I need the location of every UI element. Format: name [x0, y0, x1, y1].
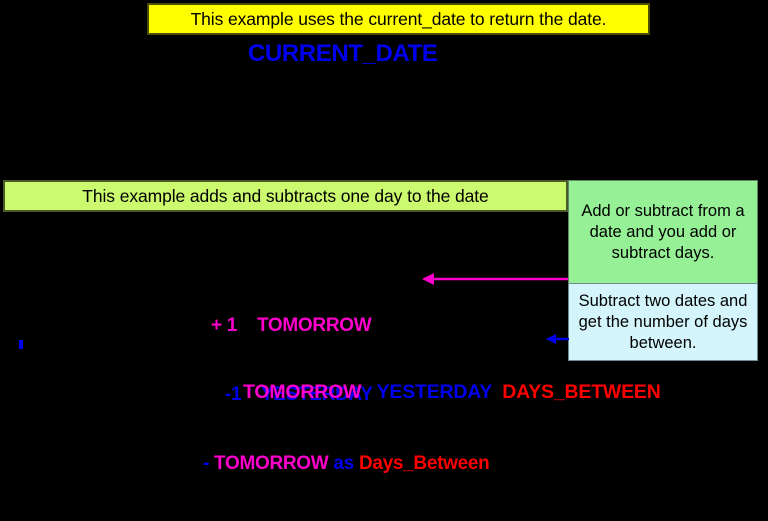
code-token: -1 [225, 384, 241, 405]
code-token: Days_Between [359, 453, 490, 474]
code-token: as [333, 453, 354, 474]
slide-canvas: This example uses the current_date to re… [0, 0, 768, 456]
arrow-to-days-between-icon [545, 330, 571, 350]
middle-banner-text: This example adds and subtracts one day … [82, 186, 488, 207]
result-column-header: TOMORROW [243, 381, 361, 403]
code-token [237, 315, 257, 336]
callout-add-subtract-text: Add or subtract from a date and you add … [575, 201, 751, 264]
code-line-line-plus-one: + 1 TOMORROW [203, 314, 573, 337]
top-banner-current-date: This example uses the current_date to re… [147, 3, 650, 35]
current-date-column-header: CURRENT_DATE [248, 40, 437, 68]
code-token: TOMORROW [214, 453, 328, 474]
code-token [489, 453, 494, 474]
callout-add-subtract: Add or subtract from a date and you add … [568, 180, 758, 284]
middle-banner-add-subtract: This example adds and subtracts one day … [3, 180, 568, 212]
result-column-headers: TOMORROW YESTERDAY DAYS_BETWEEN [243, 381, 661, 404]
result-column-header: YESTERDAY [377, 381, 492, 403]
result-column-header [361, 381, 376, 403]
code-token: - [203, 453, 214, 474]
code-token: TOMORROW [257, 315, 371, 336]
stray-blue-mark [19, 340, 23, 349]
top-banner-text: This example uses the current_date to re… [191, 9, 607, 30]
result-column-header [492, 381, 502, 403]
code-token: + 1 [211, 315, 237, 336]
arrow-to-tomorrow-icon [420, 268, 570, 292]
code-line-line-days-between: - TOMORROW as Days_Between [203, 452, 573, 475]
result-column-header: DAYS_BETWEEN [502, 381, 660, 403]
callout-days-between-text: Subtract two dates and get the number of… [575, 291, 751, 354]
callout-days-between: Subtract two dates and get the number of… [568, 283, 758, 361]
